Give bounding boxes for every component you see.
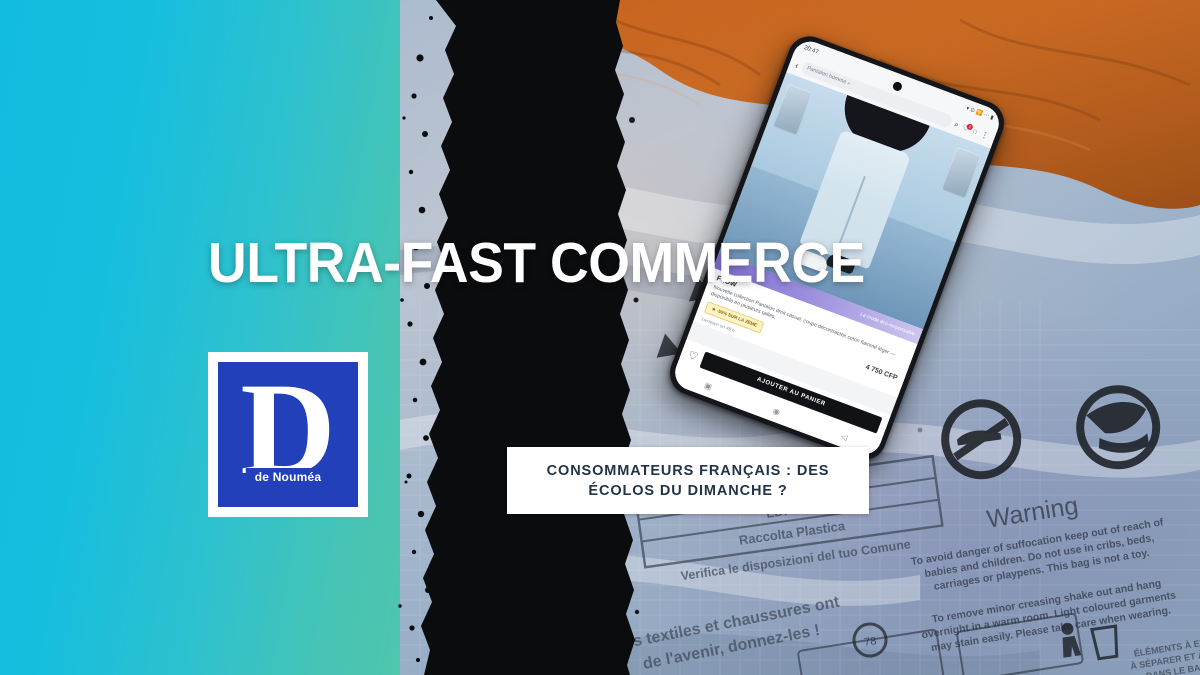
logo-subtitle: de Nouméa <box>246 468 330 487</box>
overflow-menu-icon[interactable]: ⋮ <box>980 130 991 141</box>
banner-stage: Borsa riutilizzabile LDPE 4 Raccolta Pla… <box>0 0 1200 675</box>
caption-box: CONSOMMATEURS FRANÇAIS : DES ÉCOLOS DU D… <box>507 447 869 514</box>
search-icon[interactable]: ⌕ <box>953 119 961 130</box>
page-title: ULTRA-FAST COMMERCE <box>208 232 866 294</box>
heart-icon[interactable]: ♡ <box>686 348 700 364</box>
status-time: 20:47 <box>803 44 819 55</box>
caption-text: CONSOMMATEURS FRANÇAIS : DES ÉCOLOS DU D… <box>507 461 869 501</box>
recents-icon[interactable]: ▣ <box>703 381 713 392</box>
logo[interactable]: D de Nouméa <box>208 352 368 517</box>
back-icon[interactable]: ◁ <box>840 432 849 443</box>
logo-inner: D de Nouméa <box>218 362 358 507</box>
wishlist-icon-wrap[interactable]: ♡ 1 <box>961 123 971 134</box>
home-icon[interactable]: ◉ <box>772 406 782 417</box>
back-arrow-icon[interactable]: ‹ <box>794 60 800 70</box>
svg-text:78: 78 <box>863 635 877 649</box>
